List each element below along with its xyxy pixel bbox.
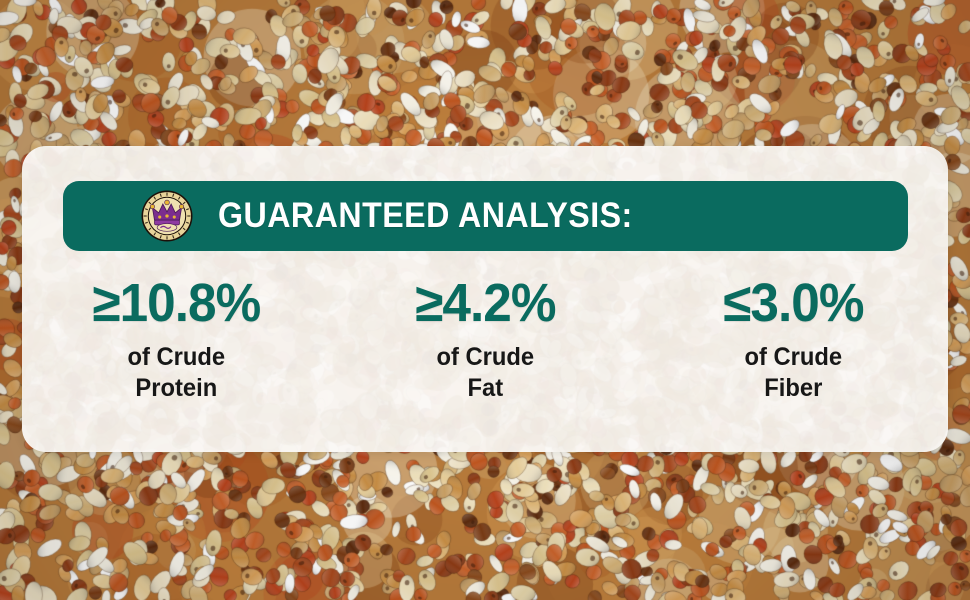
- banner-title: GUARANTEED ANALYSIS:: [218, 196, 633, 236]
- guaranteed-analysis-stats: ≥10.8% of Crude Protein ≥4.2% of Crude F…: [22, 276, 948, 403]
- stat-label-crude-fiber: of Crude Fiber: [647, 342, 940, 403]
- stat-crude-protein: ≥10.8% of Crude Protein: [22, 276, 331, 403]
- brand-seal-icon: [141, 190, 193, 242]
- stat-label-line1: of Crude: [30, 342, 323, 373]
- stat-label-line2: Fat: [338, 373, 631, 404]
- stat-value-crude-protein: ≥10.8%: [30, 276, 323, 330]
- stat-label-crude-protein: of Crude Protein: [30, 342, 323, 403]
- stat-label-line1: of Crude: [338, 342, 631, 373]
- stat-value-crude-fiber: ≤3.0%: [647, 276, 940, 330]
- stat-crude-fiber: ≤3.0% of Crude Fiber: [639, 276, 948, 403]
- stat-crude-fat: ≥4.2% of Crude Fat: [331, 276, 640, 403]
- stat-label-line2: Protein: [30, 373, 323, 404]
- stat-label-crude-fat: of Crude Fat: [338, 342, 631, 403]
- stat-label-line1: of Crude: [647, 342, 940, 373]
- guaranteed-analysis-card: GUARANTEED ANALYSIS: ≥10.8% of Crude Pro…: [22, 146, 948, 452]
- stat-label-line2: Fiber: [647, 373, 940, 404]
- guaranteed-analysis-banner: GUARANTEED ANALYSIS:: [63, 181, 908, 251]
- stat-value-crude-fat: ≥4.2%: [338, 276, 631, 330]
